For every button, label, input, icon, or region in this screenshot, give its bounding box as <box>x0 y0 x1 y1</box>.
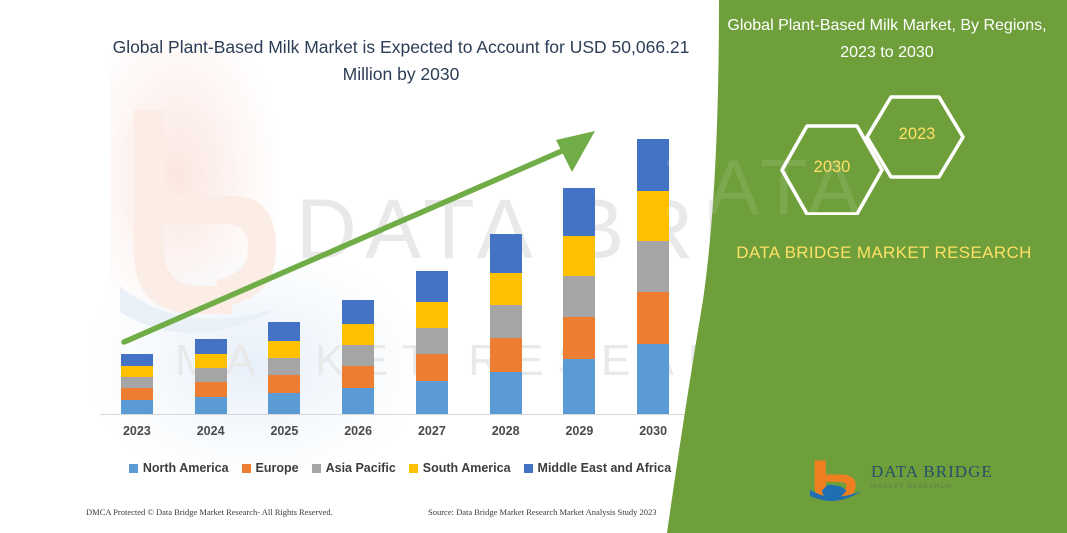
x-axis-label: 2025 <box>248 424 322 438</box>
bar-segment[interactable] <box>490 338 522 372</box>
bar-segment[interactable] <box>342 388 374 414</box>
stacked-bar[interactable] <box>490 234 522 414</box>
legend-item[interactable]: Asia Pacific <box>312 461 396 475</box>
legend-label: Middle East and Africa <box>538 461 672 475</box>
bar-segment[interactable] <box>268 375 300 393</box>
legend-item[interactable]: Europe <box>242 461 299 475</box>
legend-swatch-icon <box>129 464 138 473</box>
bar-segment[interactable] <box>637 139 669 191</box>
footer: DMCA Protected © Data Bridge Market Rese… <box>0 507 760 527</box>
bar-segment[interactable] <box>490 372 522 414</box>
bar-slot <box>469 122 543 414</box>
bar-segment[interactable] <box>416 381 448 414</box>
legend-swatch-icon <box>409 464 418 473</box>
stacked-bar-chart <box>100 120 690 415</box>
chart-legend: North AmericaEuropeAsia PacificSouth Ame… <box>100 461 700 475</box>
bar-slot <box>321 122 395 414</box>
bar-segment[interactable] <box>342 366 374 388</box>
bar-segment[interactable] <box>121 400 153 414</box>
x-axis-label: 2023 <box>100 424 174 438</box>
legend-swatch-icon <box>312 464 321 473</box>
footer-source: Source: Data Bridge Market Research Mark… <box>428 507 657 517</box>
infographic-root: DATA BRIDGE MARKET RESEARCH Global Plant… <box>0 0 1067 533</box>
legend-swatch-icon <box>524 464 533 473</box>
bar-segment[interactable] <box>342 324 374 345</box>
bar-segment[interactable] <box>490 305 522 338</box>
x-axis-label: 2029 <box>543 424 617 438</box>
bar-slot <box>395 122 469 414</box>
legend-label: Europe <box>256 461 299 475</box>
hexagon-group: 2030 2023 <box>747 95 1047 215</box>
bar-segment[interactable] <box>416 302 448 328</box>
x-axis-label: 2027 <box>395 424 469 438</box>
databridge-mark-icon <box>809 458 865 504</box>
legend-item[interactable]: South America <box>409 461 511 475</box>
bar-segment[interactable] <box>416 354 448 381</box>
x-axis-label: 2024 <box>174 424 248 438</box>
x-axis-label: 2026 <box>321 424 395 438</box>
stacked-bar[interactable] <box>195 339 227 414</box>
company-logo: DATA BRIDGE MARKET RESEARCH <box>809 456 1009 506</box>
bar-slot <box>248 122 322 414</box>
bar-segment[interactable] <box>268 393 300 414</box>
hexagon-outlines-icon <box>747 95 1047 215</box>
bar-segment[interactable] <box>416 271 448 302</box>
hex-label-2030: 2030 <box>802 158 862 177</box>
right-panel-title: Global Plant-Based Milk Market, By Regio… <box>727 12 1047 66</box>
stacked-bar[interactable] <box>637 139 669 414</box>
bar-segment[interactable] <box>195 354 227 368</box>
x-axis-line <box>100 414 690 415</box>
bar-segment[interactable] <box>342 345 374 366</box>
bar-segment[interactable] <box>195 382 227 397</box>
hex-label-2023: 2023 <box>887 125 947 144</box>
legend-swatch-icon <box>242 464 251 473</box>
brand-name: DATA BRIDGE MARKET RESEARCH <box>734 238 1034 267</box>
stacked-bar[interactable] <box>121 354 153 414</box>
stacked-bar[interactable] <box>268 322 300 414</box>
bar-segment[interactable] <box>195 339 227 354</box>
stacked-bar[interactable] <box>342 300 374 414</box>
bar-segment[interactable] <box>121 388 153 400</box>
chart-title: Global Plant-Based Milk Market is Expect… <box>86 34 716 88</box>
bar-slot <box>100 122 174 414</box>
bar-segment[interactable] <box>268 322 300 341</box>
bar-segment[interactable] <box>342 300 374 324</box>
bar-segment[interactable] <box>490 234 522 273</box>
stacked-bar[interactable] <box>416 271 448 414</box>
bar-segment[interactable] <box>268 358 300 375</box>
bar-segment[interactable] <box>195 397 227 414</box>
bar-segment[interactable] <box>416 328 448 354</box>
branding-panel: DATA Global Plant-Based Milk Market, By … <box>667 0 1067 533</box>
bar-segment[interactable] <box>563 188 595 236</box>
legend-label: Asia Pacific <box>326 461 396 475</box>
bar-segment[interactable] <box>563 236 595 276</box>
bar-segment[interactable] <box>637 292 669 344</box>
stacked-bar[interactable] <box>563 188 595 414</box>
bar-segment[interactable] <box>490 273 522 305</box>
bar-segment[interactable] <box>121 366 153 377</box>
bar-slot <box>543 122 617 414</box>
legend-label: South America <box>423 461 511 475</box>
bar-segment[interactable] <box>563 276 595 317</box>
legend-item[interactable]: North America <box>129 461 229 475</box>
bar-segment[interactable] <box>563 317 595 359</box>
legend-item[interactable]: Middle East and Africa <box>524 461 672 475</box>
x-axis-label: 2028 <box>469 424 543 438</box>
x-axis-labels: 20232024202520262027202820292030 <box>100 424 690 444</box>
bar-segment[interactable] <box>637 344 669 414</box>
legend-label: North America <box>143 461 229 475</box>
bar-segment[interactable] <box>268 341 300 358</box>
logo-text-main: DATA BRIDGE <box>871 462 993 482</box>
footer-copyright: DMCA Protected © Data Bridge Market Rese… <box>86 507 333 517</box>
bar-segment[interactable] <box>195 368 227 382</box>
chart-panel: DATA BRIDGE MARKET RESEARCH Global Plant… <box>0 0 760 533</box>
bar-segment[interactable] <box>637 191 669 241</box>
bar-segment[interactable] <box>637 241 669 292</box>
logo-text-sub: MARKET RESEARCH <box>871 483 952 490</box>
bar-slot <box>174 122 248 414</box>
bar-segment[interactable] <box>563 359 595 414</box>
bar-segment[interactable] <box>121 354 153 366</box>
bar-segment[interactable] <box>121 377 153 388</box>
